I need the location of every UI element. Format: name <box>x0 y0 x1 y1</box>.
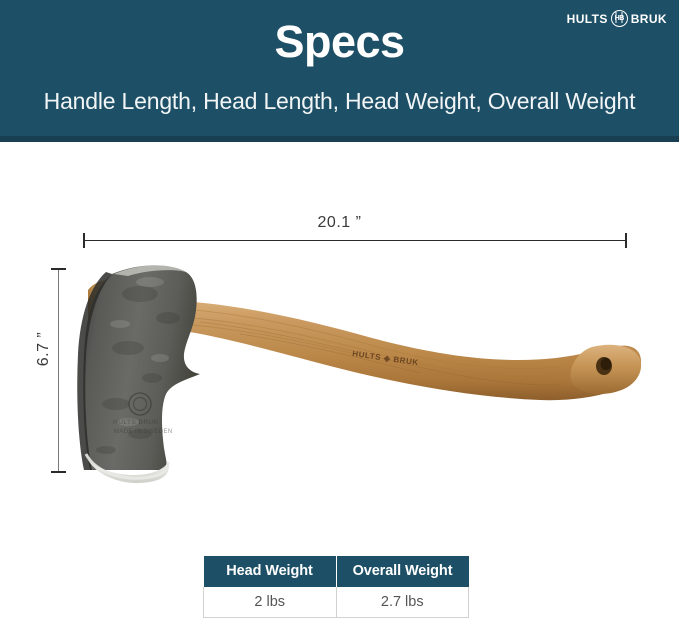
axe-handle: HULTS ◈ BRUK <box>160 300 641 400</box>
axe-head: HULTS BRUK MADE IN SWEDEN <box>77 265 200 483</box>
page-title: Specs <box>0 18 679 65</box>
spec-table: Head Weight Overall Weight 2 lbs 2.7 lbs <box>203 556 469 618</box>
svg-text:MADE IN SWEDEN: MADE IN SWEDEN <box>114 429 173 435</box>
cell-overall-weight: 2.7 lbs <box>336 587 469 618</box>
svg-text:HULTS BRUK: HULTS BRUK <box>113 419 159 426</box>
page-subtitle: Handle Length, Head Length, Head Weight,… <box>0 88 679 115</box>
column-header-overall-weight: Overall Weight <box>336 556 469 587</box>
table-row: 2 lbs 2.7 lbs <box>204 587 469 618</box>
product-stage: 20.1 ” 6.7 ” <box>0 142 679 542</box>
axe-illustration: HULTS ◈ BRUK <box>0 142 679 542</box>
spec-table-header-row: Head Weight Overall Weight <box>204 556 469 587</box>
cell-head-weight: 2 lbs <box>204 587 337 618</box>
column-header-head-weight: Head Weight <box>204 556 337 587</box>
page-header: HULTS HB BRUK Specs Handle Length, Head … <box>0 0 679 142</box>
